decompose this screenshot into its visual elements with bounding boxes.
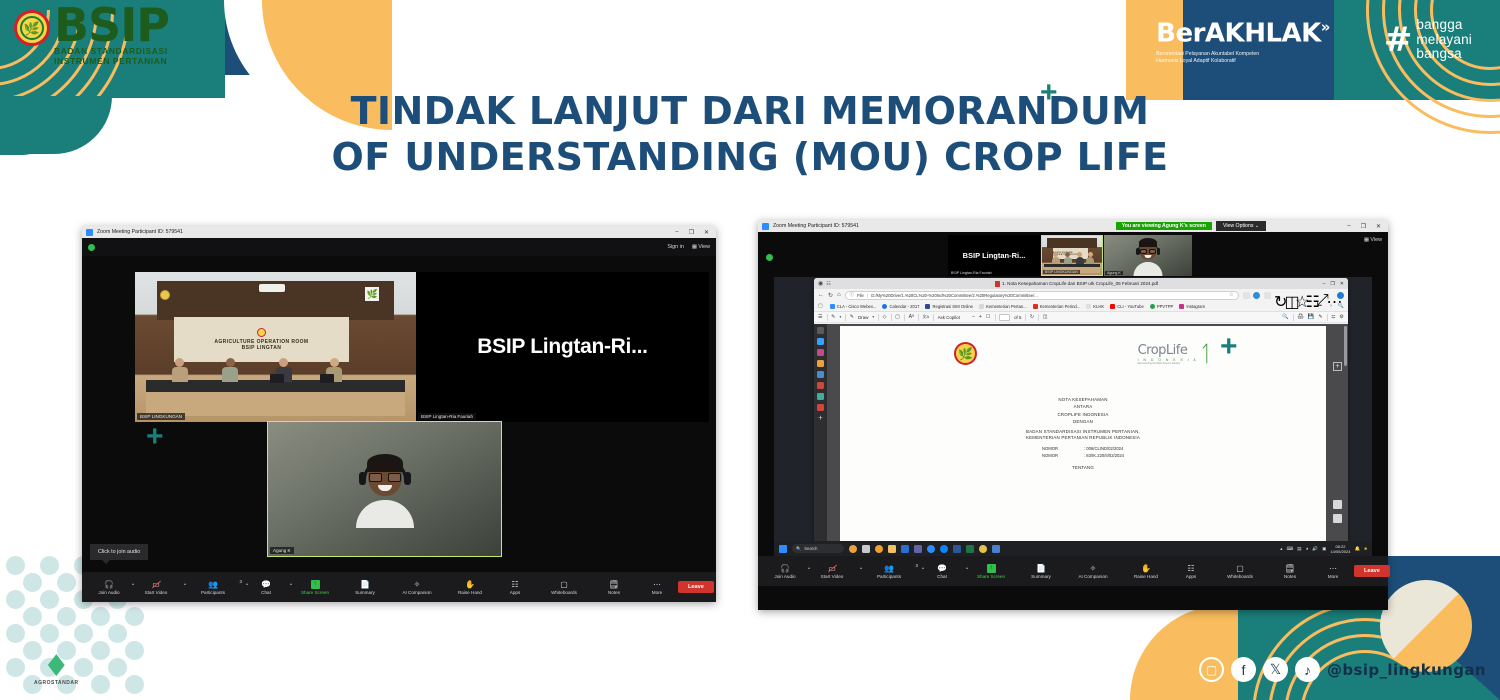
pdf-viewer-stage[interactable]: + 🌿 CropLife I N D O N E S I A Represent… bbox=[814, 324, 1348, 541]
bookmark-label: CLA - Cisco Webex... bbox=[837, 304, 877, 309]
apps-icon: ☷ bbox=[1187, 563, 1194, 573]
toolbar-summary-label: Summary bbox=[355, 590, 375, 595]
croplife-leaf-icon: ᛐ bbox=[1199, 345, 1212, 363]
browser-maximize-button[interactable]: ❐ bbox=[1330, 281, 1334, 287]
taskbar-word-icon[interactable] bbox=[953, 545, 961, 553]
sparkle-icon: ✧ bbox=[414, 579, 421, 589]
notes-icon: 🗒 bbox=[1285, 563, 1295, 573]
chevron-down-icon[interactable]: ▾ bbox=[872, 315, 874, 319]
copilot-icon[interactable] bbox=[1337, 292, 1344, 299]
toolbar-whiteboards-label: Whiteboards bbox=[1227, 574, 1253, 579]
browser-titlebar[interactable]: ◉ ☷ 1. Nota Kesepahaman CropLife dan BSI… bbox=[814, 278, 1348, 289]
sign-in-button[interactable]: Sign in bbox=[667, 244, 683, 250]
participant-tile-room[interactable]: 🌿 AGRICULTURE OPERATION ROOM BSIP LINGTA… bbox=[135, 272, 416, 422]
taskbar-explorer-icon[interactable] bbox=[888, 545, 896, 553]
seal-inner-leaf-icon: 🌿 bbox=[20, 16, 44, 40]
bookmark-item[interactable]: Calendar - 2017 bbox=[882, 304, 919, 309]
agriculture-ministry-seal-icon: 🌿 bbox=[14, 10, 50, 46]
plus-accent-icon: + bbox=[146, 422, 164, 452]
bookmarks-overflow-icon[interactable]: › bbox=[1330, 303, 1332, 309]
taskbar-store-icon[interactable] bbox=[901, 545, 909, 553]
back-arrow-icon[interactable]: ← bbox=[818, 292, 824, 298]
taskbar-excel-icon[interactable] bbox=[966, 545, 974, 553]
draw-label[interactable]: Draw bbox=[858, 315, 868, 320]
toolbar-apps[interactable]: ☷ Apps bbox=[1170, 563, 1212, 579]
search-icon: 🔍 bbox=[796, 546, 801, 552]
people-icon: 👥 bbox=[208, 579, 218, 589]
bsip-subtitle-line2: INSTRUMEN PERTANIAN bbox=[54, 57, 169, 67]
participant-name-label: BSIP LINGKUNGAN bbox=[137, 413, 185, 420]
toolbar-share-screen[interactable]: ↑ Share Screen bbox=[288, 579, 342, 595]
browser-close-button[interactable]: ✕ bbox=[1340, 281, 1344, 287]
toolbar-start-video-label: Start Video bbox=[821, 574, 844, 579]
browser-essentials-icon[interactable]: ◫ bbox=[1285, 292, 1292, 299]
x-twitter-icon[interactable]: 𝕏 bbox=[1263, 657, 1288, 682]
right-window-titlebar[interactable]: Zoom Meeting Participant ID: 579541 You … bbox=[758, 220, 1388, 232]
tray-apps-icon[interactable]: ■ bbox=[1364, 546, 1367, 551]
toolbar-join-audio[interactable]: 🎧 Join Audio ▴ bbox=[764, 563, 806, 579]
zoom-out-button[interactable]: − bbox=[972, 314, 975, 320]
chat-bubble-icon: 💬 bbox=[261, 579, 271, 589]
bookmark-label: Kementerian Perind... bbox=[1040, 304, 1081, 309]
toolbar-participants[interactable]: 👥 Participants 3 ▴ bbox=[182, 579, 244, 595]
toolbar-join-audio[interactable]: 🎧 Join Audio ▴ bbox=[88, 579, 130, 595]
chevron-down-icon: ⌄ bbox=[1255, 223, 1259, 229]
sidebar-shopping-icon[interactable] bbox=[817, 349, 824, 356]
plus-accent-icon: + bbox=[1040, 78, 1058, 108]
hashtag-icon: # bbox=[1384, 23, 1413, 57]
sidebar-tabs-icon[interactable] bbox=[817, 327, 824, 334]
filmstrip-tile-avatar[interactable]: BSIP Lingtan-Ri... BSIP Lingtan-Ria Faur… bbox=[948, 235, 1040, 276]
ellipsis-icon: ⋯ bbox=[1329, 563, 1337, 573]
berakhlak-wordmark: BerAKHLAK» bbox=[1156, 18, 1330, 49]
participant-tile-self[interactable]: Agung K bbox=[267, 421, 502, 557]
battery-icon[interactable]: ▣ bbox=[1322, 546, 1326, 552]
bookmark-item[interactable]: CLI - YouTube bbox=[1110, 304, 1144, 309]
people-icon: 👥 bbox=[884, 563, 894, 573]
sidebar-copilot-icon[interactable] bbox=[817, 338, 824, 345]
signboard-seal-icon bbox=[257, 328, 266, 337]
url-text: G:/My%20Drive/1.%20CL%20-%20Ind%20Commit… bbox=[871, 293, 1038, 298]
star-icon[interactable]: ☆ bbox=[1229, 292, 1233, 298]
berakhlak-sup: » bbox=[1321, 18, 1330, 36]
leave-meeting-button[interactable]: Leave bbox=[1354, 565, 1390, 577]
nomor-label-1: NOMOR bbox=[1042, 445, 1076, 452]
doc-party-2-line2: KEMENTERIAN PERTANIAN REPUBLIK INDONESIA bbox=[840, 435, 1326, 441]
view-button-label: View bbox=[698, 244, 710, 250]
chevron-down-icon[interactable]: ▾ bbox=[840, 315, 842, 319]
encryption-shield-icon[interactable] bbox=[88, 244, 95, 251]
tray-display-icon[interactable]: ▤ bbox=[1297, 546, 1301, 552]
toolbar-more[interactable]: ⋯ More bbox=[1312, 563, 1354, 579]
toolbar-ai-companion-label: AI Companion bbox=[1078, 574, 1107, 579]
search-placeholder: Search bbox=[804, 546, 817, 551]
toolbar-notes-label: Notes bbox=[608, 590, 620, 595]
croplife-wordmark: CropLife bbox=[1138, 343, 1198, 358]
bangga-melayani-bangsa-logo: # bangga melayani bangsa bbox=[1384, 18, 1472, 62]
facebook-icon[interactable]: f bbox=[1231, 657, 1256, 682]
croplife-tagline: Representing the Plant Science Industry bbox=[1138, 362, 1198, 365]
read-aloud-icon[interactable]: Aᵃ bbox=[909, 314, 914, 320]
taskbar-clock[interactable]: 08:22 14/05/2024 bbox=[1330, 544, 1350, 554]
toolbar-notes-label: Notes bbox=[1284, 574, 1296, 579]
toolbar-share-screen-label: Share Screen bbox=[977, 574, 1005, 579]
toolbar-more-label: More bbox=[652, 590, 662, 595]
view-button-label: View bbox=[1370, 237, 1382, 243]
shared-desktop: ◉ ☷ 1. Nota Kesepahaman CropLife dan BSI… bbox=[774, 277, 1372, 556]
toolbar-participants-label: Participants bbox=[877, 574, 901, 579]
url-scheme: File bbox=[857, 293, 864, 298]
chat-bubble-icon: 💬 bbox=[937, 563, 947, 573]
glasses-icon bbox=[369, 473, 401, 482]
gear-icon[interactable]: ⚙ bbox=[1339, 314, 1344, 320]
close-button[interactable]: ✕ bbox=[701, 229, 712, 236]
title-line-2: OF UNDERSTANDING (MOU) CROP LIFE bbox=[0, 134, 1500, 180]
agrostandar-label: AGROSTANDAR bbox=[34, 680, 79, 686]
zoom-app-icon bbox=[86, 229, 93, 236]
toolbar-summary[interactable]: 📄 Summary bbox=[1018, 563, 1064, 579]
whiteboard-icon: ▢ bbox=[1236, 563, 1244, 573]
ask-copilot-button[interactable]: Ask Copilot bbox=[938, 315, 960, 320]
bookmark-label: Instagram bbox=[1186, 304, 1205, 309]
berakhlak-text: BerAKHLAK bbox=[1156, 19, 1321, 49]
bangga-line2: melayani bbox=[1416, 33, 1472, 48]
bookmark-item[interactable]: CLA - Cisco Webex... bbox=[830, 304, 877, 309]
filmstrip-name-label: BSIP Lingtan-Ria Fauriah bbox=[949, 271, 994, 275]
toolbar-whiteboards[interactable]: ▢ Whiteboards bbox=[1212, 563, 1268, 579]
toolbar-chat[interactable]: 💬 Chat ▴ bbox=[244, 579, 288, 595]
toolbar-chat[interactable]: 💬 Chat ▴ bbox=[920, 563, 964, 579]
highlight-tool-icon[interactable]: ✎ bbox=[1318, 314, 1322, 320]
minimize-button[interactable]: – bbox=[1344, 223, 1353, 229]
toolbar-chat-label: Chat bbox=[937, 574, 947, 579]
toolbar-ai-companion-label: AI Companion bbox=[402, 590, 431, 595]
berakhlak-logo: BerAKHLAK» Berorientasi Pelayanan Akunta… bbox=[1156, 18, 1330, 65]
hand-icon: ✋ bbox=[1141, 563, 1151, 573]
zoom-in-overlay-button[interactable]: + bbox=[1333, 362, 1342, 371]
bookmarks-bar: ▢ CLA - Cisco Webex... Calendar - 2017 R… bbox=[814, 301, 1348, 312]
nomor-value-2: : 83/IK.220/II/02/2024 bbox=[1084, 452, 1124, 459]
toc-icon[interactable]: ☰ bbox=[818, 314, 823, 320]
bookmark-label: Calendar - 2017 bbox=[889, 304, 919, 309]
left-window-title: Zoom Meeting Participant ID: 579541 bbox=[97, 229, 183, 235]
bangga-line3: bangsa bbox=[1416, 47, 1472, 62]
toolbar-summary-label: Summary bbox=[1031, 574, 1051, 579]
taskbar-chrome-icon[interactable] bbox=[979, 545, 987, 553]
pdf-settings-toggle[interactable] bbox=[1333, 514, 1342, 523]
page-title: TINDAK LANJUT DARI MEMORANDUM OF UNDERST… bbox=[0, 88, 1500, 181]
participants-count: 3 bbox=[240, 579, 242, 584]
video-off-icon: ▭ bbox=[828, 563, 836, 573]
bsip-logo: 🌿 BSIP BADAN STANDARDISASI INSTRUMEN PER… bbox=[14, 6, 169, 67]
headset-icon: 🎧 bbox=[104, 579, 114, 589]
bookmark-label: KLHK bbox=[1093, 304, 1104, 309]
share-screen-icon: ↑ bbox=[311, 580, 320, 589]
browser-tab-title: 1. Nota Kesepahaman CropLife dan BSIP ut… bbox=[1002, 281, 1158, 286]
toolbar-share-screen-label: Share Screen bbox=[301, 590, 329, 595]
toolbar-share-screen[interactable]: ↑ Share Screen bbox=[964, 563, 1018, 579]
title-line-1: TINDAK LANJUT DARI MEMORANDUM bbox=[0, 88, 1500, 134]
bookmark-item[interactable]: Registrasi SIM Online bbox=[925, 304, 973, 309]
volume-icon[interactable]: 🔊 bbox=[1312, 546, 1318, 552]
headset-icon: 🎧 bbox=[780, 563, 790, 573]
bookmark-label: CLI - YouTube bbox=[1117, 304, 1144, 309]
extensions-icon[interactable]: ⤢ bbox=[1316, 292, 1323, 299]
bookmark-label: PPVTPP bbox=[1157, 304, 1174, 309]
toolbar-start-video[interactable]: ▭ Start Video ▴ bbox=[130, 579, 182, 595]
rotate-icon[interactable]: ↻ bbox=[1030, 314, 1034, 320]
view-options-label: View Options bbox=[1223, 223, 1253, 229]
sidebar-games-icon[interactable] bbox=[817, 360, 824, 367]
croplife-country: I N D O N E S I A bbox=[1138, 358, 1198, 362]
taskbar-app-icon[interactable] bbox=[875, 545, 883, 553]
filmstrip-tile-room[interactable]: AGRICULTURE OPERATION ROOM BSIP LINGKUNG… bbox=[1041, 235, 1103, 276]
sidebar-pdf-icon[interactable] bbox=[817, 404, 824, 411]
search-icon[interactable]: 🔍 bbox=[1338, 303, 1344, 309]
page-total-label: of 5 bbox=[1014, 315, 1021, 320]
participant-filmstrip: BSIP Lingtan-Ri... BSIP Lingtan-Ria Faur… bbox=[948, 235, 1192, 276]
participant-tile-avatar[interactable]: BSIP Lingtan-Ri... BSIP Lingtan-Ria Faur… bbox=[416, 272, 709, 422]
taskbar-linkedin-icon[interactable] bbox=[992, 545, 1000, 553]
layout-icon[interactable]: ◫ bbox=[1043, 314, 1048, 320]
collections-icon[interactable] bbox=[1243, 292, 1250, 299]
left-zoom-window[interactable]: Zoom Meeting Participant ID: 579541 – ❐ … bbox=[82, 226, 716, 602]
toolbar-participants-label: Participants bbox=[201, 590, 225, 595]
doc-dengan: DENGAN bbox=[840, 418, 1326, 425]
right-zoom-toolbar: 🎧 Join Audio ▴ ▭ Start Video ▴ 👥 Partici… bbox=[758, 556, 1388, 586]
apps-icon: ☷ bbox=[511, 579, 518, 589]
text-box-icon[interactable]: ▢ bbox=[895, 314, 900, 320]
windows-start-icon[interactable] bbox=[779, 545, 787, 553]
left-window-titlebar[interactable]: Zoom Meeting Participant ID: 579541 – ❐ … bbox=[82, 226, 716, 238]
room-panel-subtitle: BSIP LINGTAN bbox=[242, 345, 282, 351]
video-off-icon: ▭ bbox=[152, 579, 160, 589]
participant-name-label: Agung K bbox=[270, 547, 294, 554]
browser-minimize-button[interactable]: – bbox=[1323, 281, 1326, 287]
fullscreen-icon[interactable]: ⥧ bbox=[1331, 314, 1335, 321]
tiktok-icon[interactable]: ♪ bbox=[1295, 657, 1320, 682]
left-zoom-toolbar: 🎧 Join Audio ▴ ▭ Start Video ▴ 👥 Partici… bbox=[82, 572, 716, 602]
document-icon: 📄 bbox=[1036, 563, 1046, 573]
toolbar-ai-companion[interactable]: ✧ AI Companion bbox=[1064, 563, 1122, 579]
pdf-file-icon bbox=[995, 281, 1000, 287]
croplife-logo: CropLife I N D O N E S I A Representing … bbox=[1138, 343, 1212, 365]
page-number-input[interactable] bbox=[999, 314, 1010, 321]
tray-keyboard-icon[interactable]: ⌨ bbox=[1287, 546, 1294, 552]
highlight-icon[interactable]: ✎ bbox=[831, 314, 835, 320]
erase-icon[interactable]: ◇ bbox=[883, 314, 887, 320]
toolbar-summary[interactable]: 📄 Summary bbox=[342, 579, 388, 595]
browser-navbar: ← ↻ ⌂ ⓘ File | G:/My%20Drive/1.%20CL%20-… bbox=[814, 289, 1348, 301]
toolbar-notes[interactable]: 🗒 Notes bbox=[592, 579, 636, 595]
air-conditioner bbox=[259, 284, 285, 292]
right-filmstrip-area: ▦ View BSIP Lingtan-Ri... BSIP Lingtan-R… bbox=[758, 232, 1388, 277]
toolbar-notes[interactable]: 🗒 Notes bbox=[1268, 563, 1312, 579]
view-options-dropdown[interactable]: View Options ⌄ bbox=[1216, 221, 1266, 231]
toolbar-join-audio-label: Join Audio bbox=[98, 590, 119, 595]
social-handle: @bsip_lingkungan bbox=[1327, 661, 1486, 679]
toolbar-whiteboards-label: Whiteboards bbox=[551, 590, 577, 595]
room-signboard: AGRICULTURE OPERATION ROOM BSIP LINGTAN bbox=[174, 317, 348, 362]
toolbar-chat-label: Chat bbox=[261, 590, 271, 595]
windows-taskbar: 🔍 Search ▴ ⌨ ▤ ◕ 🔊 ▣ 08:2 bbox=[774, 541, 1372, 556]
sidebar-add-icon[interactable]: + bbox=[817, 415, 824, 422]
taskbar-widgets-icon[interactable] bbox=[849, 545, 857, 553]
berakhlak-tagline-line2: Harmonis Loyal Adaptif Kolaboratif bbox=[1156, 58, 1330, 65]
split-screen-icon[interactable] bbox=[1264, 292, 1271, 299]
filmstrip-tile-self[interactable]: Agung K bbox=[1104, 235, 1192, 276]
history-icon[interactable]: ↻ bbox=[1274, 292, 1281, 299]
toolbar-raise-hand[interactable]: ✋ Raise Hand bbox=[446, 579, 494, 595]
edge-browser-window[interactable]: ◉ ☷ 1. Nota Kesepahaman CropLife dan BSI… bbox=[814, 278, 1348, 541]
filmstrip-name-label: Agung K bbox=[1105, 271, 1123, 275]
bookmark-label: Kementerian Pertan... bbox=[986, 304, 1027, 309]
close-button[interactable]: ✕ bbox=[1373, 223, 1384, 230]
zoom-in-button[interactable]: + bbox=[979, 314, 982, 320]
sidebar-drop-icon[interactable] bbox=[817, 393, 824, 400]
notes-icon: 🗒 bbox=[609, 579, 619, 589]
bookmark-item[interactable]: Instagram bbox=[1179, 304, 1205, 309]
plus-accent-icon: + bbox=[1220, 332, 1238, 362]
participants-count: 3 bbox=[916, 563, 918, 568]
taskbar-teams-icon[interactable] bbox=[914, 545, 922, 553]
fit-page-icon[interactable]: ☐ bbox=[986, 314, 991, 320]
viewing-screen-banner: You are viewing Agung K's screen bbox=[1116, 222, 1212, 230]
meeting-room-video: 🌿 AGRICULTURE OPERATION ROOM BSIP LINGTA… bbox=[135, 272, 416, 422]
bookmark-item[interactable]: Kementerian Perind... bbox=[1033, 304, 1081, 309]
nomor-value-1: : 006/CLIND/02/2024 bbox=[1084, 445, 1123, 452]
share-screen-icon: ↑ bbox=[987, 564, 996, 573]
edge-logo-icon: ◉ bbox=[818, 280, 823, 287]
doc-party-1: CROPLIFE INDONESIA bbox=[840, 411, 1326, 418]
participant-name-label: BSIP Lingtan-Ria Fauriah bbox=[418, 413, 476, 420]
nomor-label-2: NOMOR bbox=[1042, 452, 1076, 459]
draw-icon[interactable]: ✎ bbox=[850, 314, 854, 320]
toolbar-start-video-label: Start Video bbox=[145, 590, 168, 595]
maximize-button[interactable]: ❐ bbox=[1358, 223, 1369, 230]
toolbar-start-video[interactable]: ▭ Start Video ▴ bbox=[806, 563, 858, 579]
print-icon[interactable]: 🖨 bbox=[1297, 314, 1304, 320]
sidebar-tools-icon[interactable] bbox=[817, 371, 824, 378]
right-window-title: Zoom Meeting Participant ID: 579541 bbox=[773, 223, 859, 229]
social-media-bar: ▢ f 𝕏 ♪ @bsip_lingkungan bbox=[1199, 657, 1486, 682]
self-video-face bbox=[356, 456, 414, 528]
taskbar-taskview-icon[interactable] bbox=[862, 545, 870, 553]
tab-group-icon[interactable]: ☷ bbox=[826, 281, 830, 287]
filmstrip-avatar-text: BSIP Lingtan-Ri... bbox=[963, 251, 1026, 260]
sidebar-office-icon[interactable] bbox=[817, 382, 824, 389]
translate-icon[interactable]: 文A bbox=[922, 314, 929, 320]
view-button[interactable]: ▦ View bbox=[1364, 237, 1382, 243]
encryption-shield-icon[interactable] bbox=[766, 254, 773, 261]
view-button[interactable]: ▦ View bbox=[692, 244, 710, 250]
bookmark-folder-icon[interactable]: ▢ bbox=[818, 303, 823, 309]
profile-icon[interactable] bbox=[1253, 292, 1260, 299]
settings-more-icon[interactable]: ⋯ bbox=[1327, 292, 1334, 299]
pdf-scrollbar[interactable] bbox=[1344, 326, 1347, 366]
bookmark-label: Registrasi SIM Online bbox=[932, 304, 973, 309]
bookmark-item[interactable]: PPVTPP bbox=[1150, 304, 1174, 309]
refresh-icon[interactable]: ↻ bbox=[828, 292, 833, 299]
pdf-thumbnail-toggle[interactable] bbox=[1333, 500, 1342, 509]
toolbar-ai-companion[interactable]: ✧ AI Companion bbox=[388, 579, 446, 595]
taskbar-edge-icon[interactable] bbox=[940, 545, 948, 553]
taskbar-search[interactable]: 🔍 Search bbox=[792, 544, 844, 553]
left-video-gallery: 🌿 AGRICULTURE OPERATION ROOM BSIP LINGTA… bbox=[82, 256, 716, 572]
bell-icon[interactable]: 🔔 bbox=[1354, 546, 1360, 552]
favorites-icon[interactable]: ☆ bbox=[1295, 292, 1302, 299]
doc-tentang: TENTANG bbox=[840, 464, 1326, 471]
ministry-seal-icon: 🌿 bbox=[954, 342, 977, 365]
address-bar[interactable]: ⓘ File | G:/My%20Drive/1.%20CL%20-%20Ind… bbox=[845, 291, 1239, 300]
edge-sidebar: + bbox=[814, 324, 827, 541]
bookmark-item[interactable]: KLHK bbox=[1086, 304, 1104, 309]
leave-meeting-button[interactable]: Leave bbox=[678, 581, 714, 593]
agrostandar-mark-icon: ♦ bbox=[34, 654, 79, 680]
toolbar-raise-hand-label: Raise Hand bbox=[1134, 574, 1158, 579]
ellipsis-icon: ⋯ bbox=[653, 579, 661, 589]
toolbar-join-audio-label: Join Audio bbox=[774, 574, 795, 579]
join-audio-tooltip: Click to join audio bbox=[90, 544, 148, 560]
toolbar-apps-label: Apps bbox=[510, 590, 520, 595]
bookmark-item[interactable]: Kementerian Pertan... bbox=[979, 304, 1027, 309]
berakhlak-tagline-line1: Berorientasi Pelayanan Akuntabel Kompete… bbox=[1156, 51, 1330, 58]
clock-date: 14/05/2024 bbox=[1330, 549, 1350, 554]
document-icon: 📄 bbox=[360, 579, 370, 589]
toolbar-raise-hand-label: Raise Hand bbox=[458, 590, 482, 595]
tray-expand-icon[interactable]: ▴ bbox=[1280, 546, 1282, 552]
collections-panel-icon[interactable]: ☷ bbox=[1306, 292, 1313, 299]
filmstrip-name-label: BSIP LINGKUNGAN bbox=[1043, 270, 1080, 274]
wall-logo-icon: 🌿 bbox=[365, 287, 379, 301]
taskbar-zoom-icon[interactable] bbox=[927, 545, 935, 553]
avatar-display-name: BSIP Lingtan-Ri... bbox=[477, 335, 647, 359]
toolbar-participants[interactable]: 👥 Participants 3 ▴ bbox=[858, 563, 920, 579]
toolbar-apps-label: Apps bbox=[1186, 574, 1196, 579]
info-icon: ⓘ bbox=[850, 292, 854, 298]
bsip-subtitle: BADAN STANDARDISASI INSTRUMEN PERTANIAN bbox=[54, 47, 169, 67]
hand-icon: ✋ bbox=[465, 579, 475, 589]
instagram-icon[interactable]: ▢ bbox=[1199, 657, 1224, 682]
sparkle-icon: ✧ bbox=[1090, 563, 1097, 573]
bangga-line1: bangga bbox=[1416, 18, 1472, 33]
home-icon[interactable]: ⌂ bbox=[837, 292, 841, 298]
whiteboard-icon: ▢ bbox=[560, 579, 568, 589]
bsip-wordmark: BSIP bbox=[54, 6, 169, 45]
agrostandar-logo: ♦ AGROSTANDAR bbox=[34, 654, 79, 687]
toolbar-more-label: More bbox=[1328, 574, 1338, 579]
search-icon[interactable]: 🔍 bbox=[1282, 314, 1288, 320]
toolbar-raise-hand[interactable]: ✋ Raise Hand bbox=[1122, 563, 1170, 579]
toolbar-whiteboards[interactable]: ▢ Whiteboards bbox=[536, 579, 592, 595]
zoom-app-icon bbox=[762, 223, 769, 230]
right-zoom-window[interactable]: Zoom Meeting Participant ID: 579541 You … bbox=[758, 220, 1388, 610]
wifi-icon[interactable]: ◕ bbox=[1306, 546, 1309, 551]
minimize-button[interactable]: – bbox=[672, 229, 681, 235]
pdf-toolbar: ☰ ✎ ▾ ✎ Draw ▾ ◇ ▢ Aᵃ 文A Ask Copilot − + bbox=[814, 312, 1348, 323]
pdf-page[interactable]: 🌿 CropLife I N D O N E S I A Representin… bbox=[840, 326, 1326, 541]
left-zoom-topbar: Sign in ▦ View bbox=[82, 238, 716, 256]
toolbar-apps[interactable]: ☷ Apps bbox=[494, 579, 536, 595]
save-icon[interactable]: 💾 bbox=[1308, 314, 1314, 320]
doc-heading: NOTA KESEPAHAMAN bbox=[840, 396, 1326, 403]
maximize-button[interactable]: ❐ bbox=[686, 229, 697, 236]
toolbar-more[interactable]: ⋯ More bbox=[636, 579, 678, 595]
doc-antara: ANTARA bbox=[840, 403, 1326, 410]
